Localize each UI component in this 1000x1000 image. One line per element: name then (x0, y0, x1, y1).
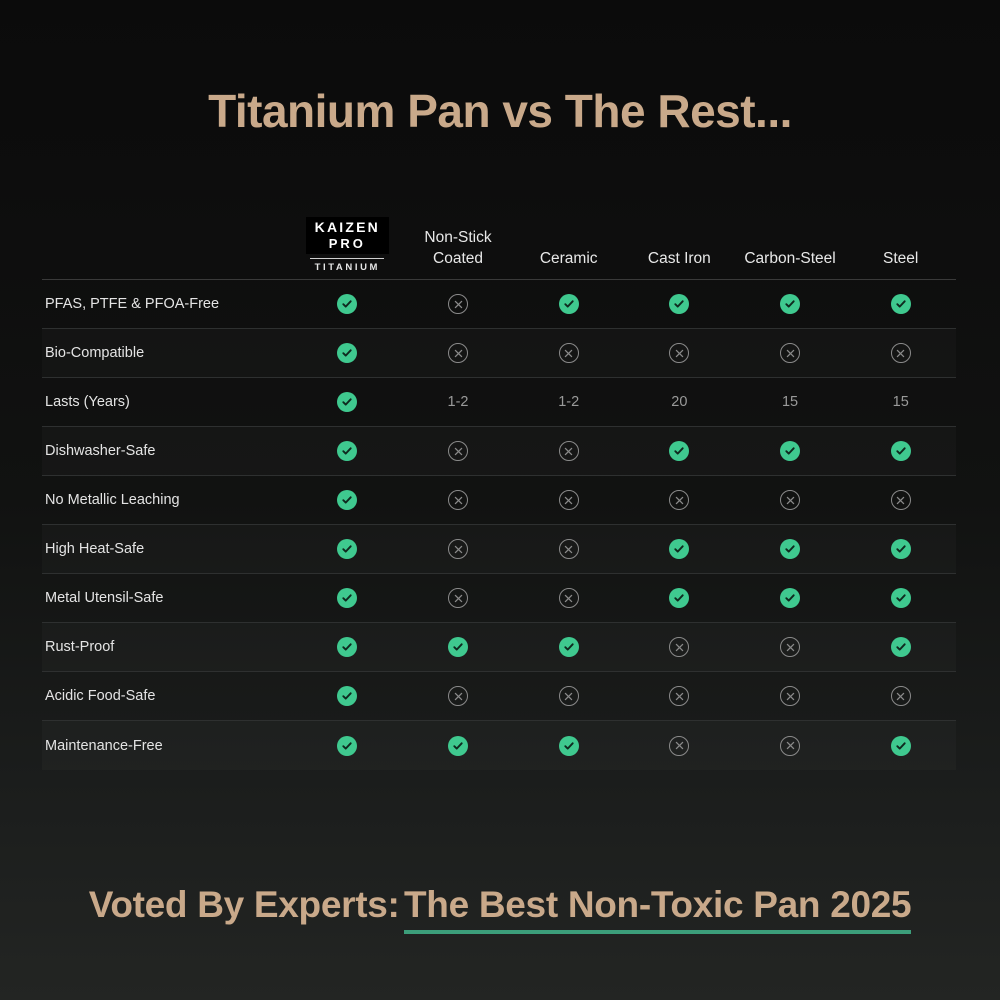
row-feature-label: No Metallic Leaching (42, 492, 292, 508)
footer-banner: Voted By Experts: The Best Non-Toxic Pan… (0, 884, 1000, 926)
cell-check-icon (624, 294, 735, 314)
cross-icon (559, 343, 579, 363)
check-icon (337, 539, 357, 559)
cross-icon (559, 441, 579, 461)
table-row: High Heat-Safe (42, 525, 956, 574)
check-icon (337, 490, 357, 510)
check-icon (448, 736, 468, 756)
cross-icon (448, 539, 468, 559)
check-icon (448, 637, 468, 657)
cell-cross-icon (403, 441, 514, 461)
cell-check-icon (735, 294, 846, 314)
cell-cross-icon (513, 343, 624, 363)
check-icon (669, 588, 689, 608)
comparison-table: KAIZEN PRO TITANIUM Non-Stick Coated Cer… (42, 200, 956, 770)
cell-value-text: 15 (735, 394, 846, 410)
cell-check-icon (624, 588, 735, 608)
cross-icon (891, 686, 911, 706)
table-row: Lasts (Years)1-21-2201515 (42, 378, 956, 427)
cross-icon (559, 490, 579, 510)
cell-check-icon (513, 736, 624, 756)
cell-cross-icon (403, 343, 514, 363)
row-feature-label: Metal Utensil-Safe (42, 590, 292, 606)
cell-check-icon (292, 441, 403, 461)
column-header-kaizen-pro: KAIZEN PRO TITANIUM (292, 217, 403, 279)
check-icon (669, 539, 689, 559)
cell-cross-icon (735, 637, 846, 657)
column-header-line-2: Coated (403, 249, 514, 270)
cell-cross-icon (403, 294, 514, 314)
cross-icon (669, 490, 689, 510)
cell-check-icon (292, 637, 403, 657)
cell-check-icon (292, 539, 403, 559)
column-header-carbon-steel: Carbon-Steel (735, 249, 846, 279)
cell-cross-icon (845, 490, 956, 510)
check-icon (337, 686, 357, 706)
column-header-non-stick-coated: Non-Stick Coated (403, 228, 514, 279)
logo-brand-name: KAIZEN (315, 220, 380, 234)
check-icon (559, 637, 579, 657)
cell-cross-icon (624, 343, 735, 363)
cell-cross-icon (513, 686, 624, 706)
row-feature-label: Maintenance-Free (42, 738, 292, 754)
cell-check-icon (403, 637, 514, 657)
check-icon (337, 294, 357, 314)
cell-value-text: 1-2 (513, 394, 624, 410)
cross-icon (891, 343, 911, 363)
cell-check-icon (624, 441, 735, 461)
cell-value-text: 1-2 (403, 394, 514, 410)
check-icon (337, 588, 357, 608)
cell-cross-icon (513, 490, 624, 510)
row-feature-label: Rust-Proof (42, 639, 292, 655)
cell-cross-icon (735, 686, 846, 706)
cross-icon (448, 343, 468, 363)
cell-check-icon (845, 294, 956, 314)
cell-check-icon (845, 539, 956, 559)
cell-check-icon (735, 588, 846, 608)
cell-cross-icon (513, 539, 624, 559)
row-feature-label: High Heat-Safe (42, 541, 292, 557)
cross-icon (780, 686, 800, 706)
cross-icon (559, 686, 579, 706)
cell-cross-icon (735, 736, 846, 756)
cross-icon (448, 441, 468, 461)
cross-icon (669, 343, 689, 363)
check-icon (337, 637, 357, 657)
cell-check-icon (735, 539, 846, 559)
cell-cross-icon (624, 736, 735, 756)
check-icon (559, 736, 579, 756)
cross-icon (780, 736, 800, 756)
table-row: Metal Utensil-Safe (42, 574, 956, 623)
cell-check-icon (292, 343, 403, 363)
cross-icon (448, 294, 468, 314)
cell-cross-icon (624, 686, 735, 706)
check-icon (780, 441, 800, 461)
cell-check-icon (292, 736, 403, 756)
cell-check-icon (513, 637, 624, 657)
table-row: PFAS, PTFE & PFOA-Free (42, 280, 956, 329)
column-header-steel: Steel (845, 249, 956, 279)
table-row: No Metallic Leaching (42, 476, 956, 525)
cell-check-icon (845, 637, 956, 657)
cell-cross-icon (735, 343, 846, 363)
row-feature-label: Lasts (Years) (42, 394, 292, 410)
check-icon (891, 441, 911, 461)
cell-check-icon (845, 441, 956, 461)
check-icon (780, 588, 800, 608)
page-title: Titanium Pan vs The Rest... (0, 84, 1000, 138)
cell-cross-icon (403, 686, 514, 706)
cross-icon (780, 343, 800, 363)
check-icon (669, 294, 689, 314)
footer-highlight-text: The Best Non-Toxic Pan 2025 (404, 884, 911, 934)
cross-icon (669, 686, 689, 706)
cell-check-icon (292, 294, 403, 314)
cell-cross-icon (403, 490, 514, 510)
cell-cross-icon (513, 441, 624, 461)
row-feature-label: Bio-Compatible (42, 345, 292, 361)
cell-check-icon (845, 588, 956, 608)
cell-value-text: 15 (845, 394, 956, 410)
cross-icon (891, 490, 911, 510)
row-feature-label: Dishwasher-Safe (42, 443, 292, 459)
check-icon (891, 539, 911, 559)
column-header-ceramic: Ceramic (513, 249, 624, 279)
cell-check-icon (292, 588, 403, 608)
row-feature-label: Acidic Food-Safe (42, 688, 292, 704)
cross-icon (559, 588, 579, 608)
cell-check-icon (292, 490, 403, 510)
cell-cross-icon (735, 490, 846, 510)
check-icon (337, 392, 357, 412)
cell-cross-icon (624, 490, 735, 510)
cell-cross-icon (403, 588, 514, 608)
cell-check-icon (513, 294, 624, 314)
check-icon (669, 441, 689, 461)
check-icon (891, 588, 911, 608)
cell-check-icon (624, 539, 735, 559)
kaizen-pro-logo: KAIZEN PRO (306, 217, 389, 254)
cell-cross-icon (845, 686, 956, 706)
cell-check-icon (292, 392, 403, 412)
table-row: Dishwasher-Safe (42, 427, 956, 476)
cell-check-icon (403, 736, 514, 756)
cross-icon (559, 539, 579, 559)
column-header-cast-iron: Cast Iron (624, 249, 735, 279)
cell-check-icon (845, 736, 956, 756)
cross-icon (448, 490, 468, 510)
check-icon (780, 539, 800, 559)
footer-lead-text: Voted By Experts: (89, 884, 400, 925)
logo-tier: PRO (329, 236, 366, 250)
check-icon (891, 294, 911, 314)
table-header-row: KAIZEN PRO TITANIUM Non-Stick Coated Cer… (42, 200, 956, 280)
cell-check-icon (292, 686, 403, 706)
cross-icon (780, 637, 800, 657)
table-row: Bio-Compatible (42, 329, 956, 378)
logo-divider (310, 258, 384, 259)
table-row: Rust-Proof (42, 623, 956, 672)
column-header-line-1: Non-Stick (403, 228, 514, 249)
cross-icon (448, 588, 468, 608)
cell-cross-icon (624, 637, 735, 657)
cross-icon (669, 736, 689, 756)
cell-check-icon (735, 441, 846, 461)
cell-cross-icon (513, 588, 624, 608)
cross-icon (780, 490, 800, 510)
check-icon (891, 637, 911, 657)
cell-value-text: 20 (624, 394, 735, 410)
check-icon (780, 294, 800, 314)
table-body: PFAS, PTFE & PFOA-FreeBio-CompatibleLast… (42, 280, 956, 770)
check-icon (891, 736, 911, 756)
check-icon (337, 736, 357, 756)
cell-cross-icon (403, 539, 514, 559)
check-icon (337, 441, 357, 461)
row-feature-label: PFAS, PTFE & PFOA-Free (42, 296, 292, 312)
table-row: Acidic Food-Safe (42, 672, 956, 721)
check-icon (337, 343, 357, 363)
cross-icon (669, 637, 689, 657)
cross-icon (448, 686, 468, 706)
cell-cross-icon (845, 343, 956, 363)
comparison-infographic: Titanium Pan vs The Rest... KAIZEN PRO T… (0, 0, 1000, 1000)
check-icon (559, 294, 579, 314)
table-row: Maintenance-Free (42, 721, 956, 770)
logo-material: TITANIUM (315, 262, 380, 273)
